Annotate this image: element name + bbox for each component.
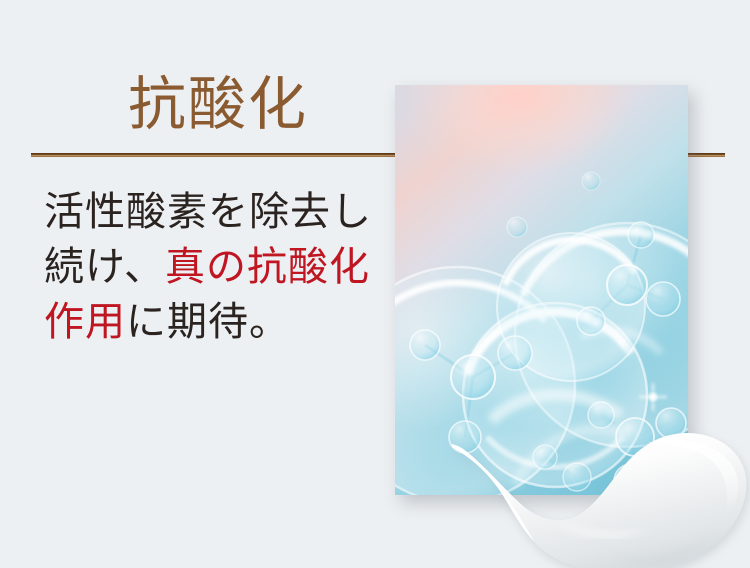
- body-line-2-seg-1: 続け、: [44, 244, 165, 289]
- body-line-1: 活性酸素を除去し: [44, 184, 394, 239]
- body-line-3-seg-2: に期待。: [126, 299, 290, 344]
- body-line-3-seg-1-highlight: 作用: [44, 299, 126, 344]
- page-title: 抗酸化: [128, 70, 308, 140]
- body-line-2: 続け、真の抗酸化: [44, 239, 394, 294]
- body-copy: 活性酸素を除去し 続け、真の抗酸化 作用に期待。: [44, 184, 394, 349]
- body-line-1-seg-1: 活性酸素を除去し: [44, 189, 372, 234]
- body-line-3: 作用に期待。: [44, 294, 394, 349]
- body-line-2-seg-2-highlight: 真の抗酸化: [165, 244, 370, 289]
- promo-panel: 抗酸化 活性酸素を除去し 続け、真の抗酸化 作用に期待。: [0, 0, 750, 568]
- molecule-bubbles-photo: [395, 85, 688, 495]
